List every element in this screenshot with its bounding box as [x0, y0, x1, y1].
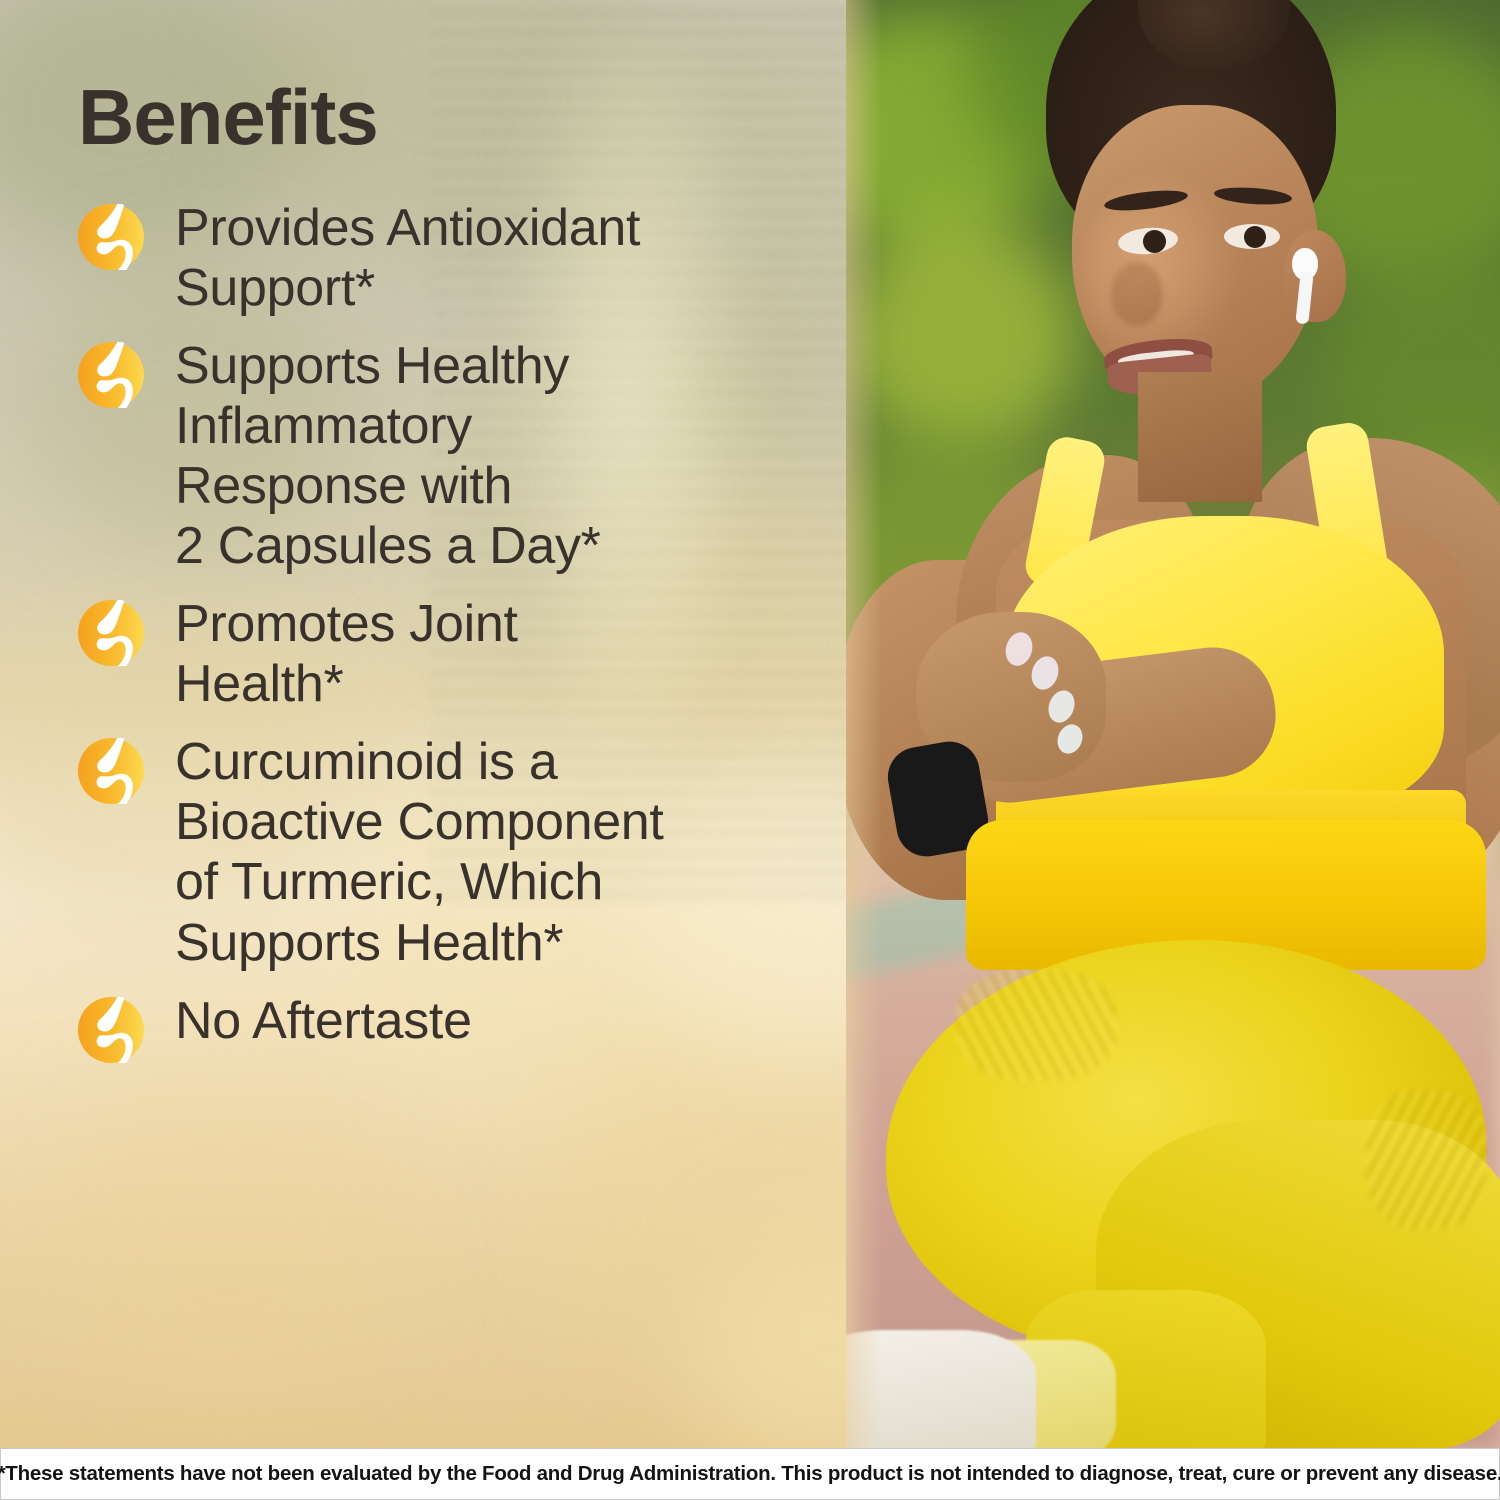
benefit-item: Provides Antioxidant Support* [78, 198, 846, 318]
foliage-bokeh [1266, 30, 1500, 290]
clasped-hands [916, 612, 1106, 782]
leggings-waistband [966, 820, 1486, 970]
benefit-text: No Aftertaste [175, 991, 472, 1051]
benefit-item: Supports Healthy Inflammatory Response w… [78, 336, 846, 576]
background-bokeh-blob [40, 1080, 420, 1410]
right-shoulder [1238, 438, 1500, 768]
foliage-bokeh [846, 10, 1056, 250]
track-marking [1224, 743, 1500, 832]
face [1072, 105, 1318, 405]
hair [1046, 0, 1336, 260]
right-arm [1276, 560, 1500, 890]
upper-lip [1103, 334, 1213, 373]
forearm [939, 640, 1282, 809]
left-eye [1117, 225, 1179, 256]
knee-joint-icon [78, 204, 144, 270]
product-benefits-infographic: Benefits [0, 0, 1500, 1500]
background-bokeh-blob [540, 1020, 846, 1400]
athletic-shoe [846, 1330, 1036, 1448]
knee-joint-icon [78, 600, 144, 666]
fingernail [1044, 687, 1079, 727]
yellow-leggings-thigh [1096, 1120, 1500, 1448]
track-ground [846, 700, 1500, 1448]
right-eyebrow [1214, 185, 1293, 206]
fingernail [1027, 653, 1062, 693]
benefit-text: Provides Antioxidant Support* [175, 198, 640, 318]
fitness-watch [883, 737, 993, 861]
wireless-earbud-stem [1295, 271, 1313, 324]
foliage-bokeh [846, 430, 1066, 670]
benefits-content: Benefits [0, 0, 846, 1063]
foliage-bokeh [966, 0, 1196, 180]
yellow-leggings-hip [886, 940, 1486, 1360]
benefit-text: Curcuminoid is a Bioactive Component of … [175, 732, 664, 972]
ear [1284, 230, 1346, 322]
benefits-panel: Benefits [0, 0, 846, 1448]
teeth [1118, 348, 1195, 369]
knee-joint-icon [78, 342, 144, 408]
knee-joint-icon [78, 738, 144, 804]
wireless-earbud-icon [1292, 248, 1318, 280]
benefit-item: Promotes Joint Health* [78, 594, 846, 714]
benefit-text: Promotes Joint Health* [175, 594, 518, 714]
foliage-bokeh [906, 600, 1126, 800]
benefit-text: Supports Healthy Inflammatory Response w… [175, 336, 601, 576]
disclaimer-bar: *These statements have not been evaluate… [0, 1448, 1500, 1500]
cheek-highlight [1082, 180, 1242, 370]
track-marking [846, 847, 1130, 983]
lower-lip [1106, 353, 1213, 400]
left-arm [846, 560, 1066, 900]
torso [996, 520, 1466, 880]
right-pupil [1244, 226, 1266, 248]
left-pupil [1143, 230, 1166, 253]
background-bokeh-blob [700, 1240, 846, 1448]
foliage-bokeh [846, 220, 1076, 450]
page-title: Benefits [78, 78, 846, 156]
fingernail [1053, 721, 1086, 758]
knee-joint-icon [78, 997, 144, 1063]
yellow-sports-bra [1004, 516, 1444, 816]
left-eyebrow [1103, 187, 1188, 214]
benefit-item: No Aftertaste [78, 991, 846, 1063]
lifestyle-photo [846, 0, 1500, 1448]
sports-bra-strap-left [1022, 434, 1108, 592]
nose [1111, 262, 1163, 326]
photo-edge-fade [846, 0, 882, 1448]
sports-bra-band [996, 790, 1466, 856]
disclaimer-text: *These statements have not been evaluate… [0, 1462, 1500, 1486]
yellow-leggings-shin [1026, 1290, 1266, 1448]
left-shoulder [956, 455, 1206, 755]
right-eye [1224, 224, 1280, 249]
fabric-crease [1366, 1090, 1486, 1230]
hair-bun [1138, 0, 1290, 72]
benefit-item: Curcuminoid is a Bioactive Component of … [78, 732, 846, 972]
sports-bra-strap-right [1304, 420, 1390, 588]
neck [1138, 372, 1262, 502]
fabric-crease [956, 970, 1116, 1080]
foliage-bokeh [1276, 640, 1500, 850]
fingernail [1002, 629, 1036, 669]
foliage-bokeh [1326, 250, 1500, 500]
sock [966, 1340, 1116, 1448]
foliage-bokeh [1346, 470, 1500, 690]
